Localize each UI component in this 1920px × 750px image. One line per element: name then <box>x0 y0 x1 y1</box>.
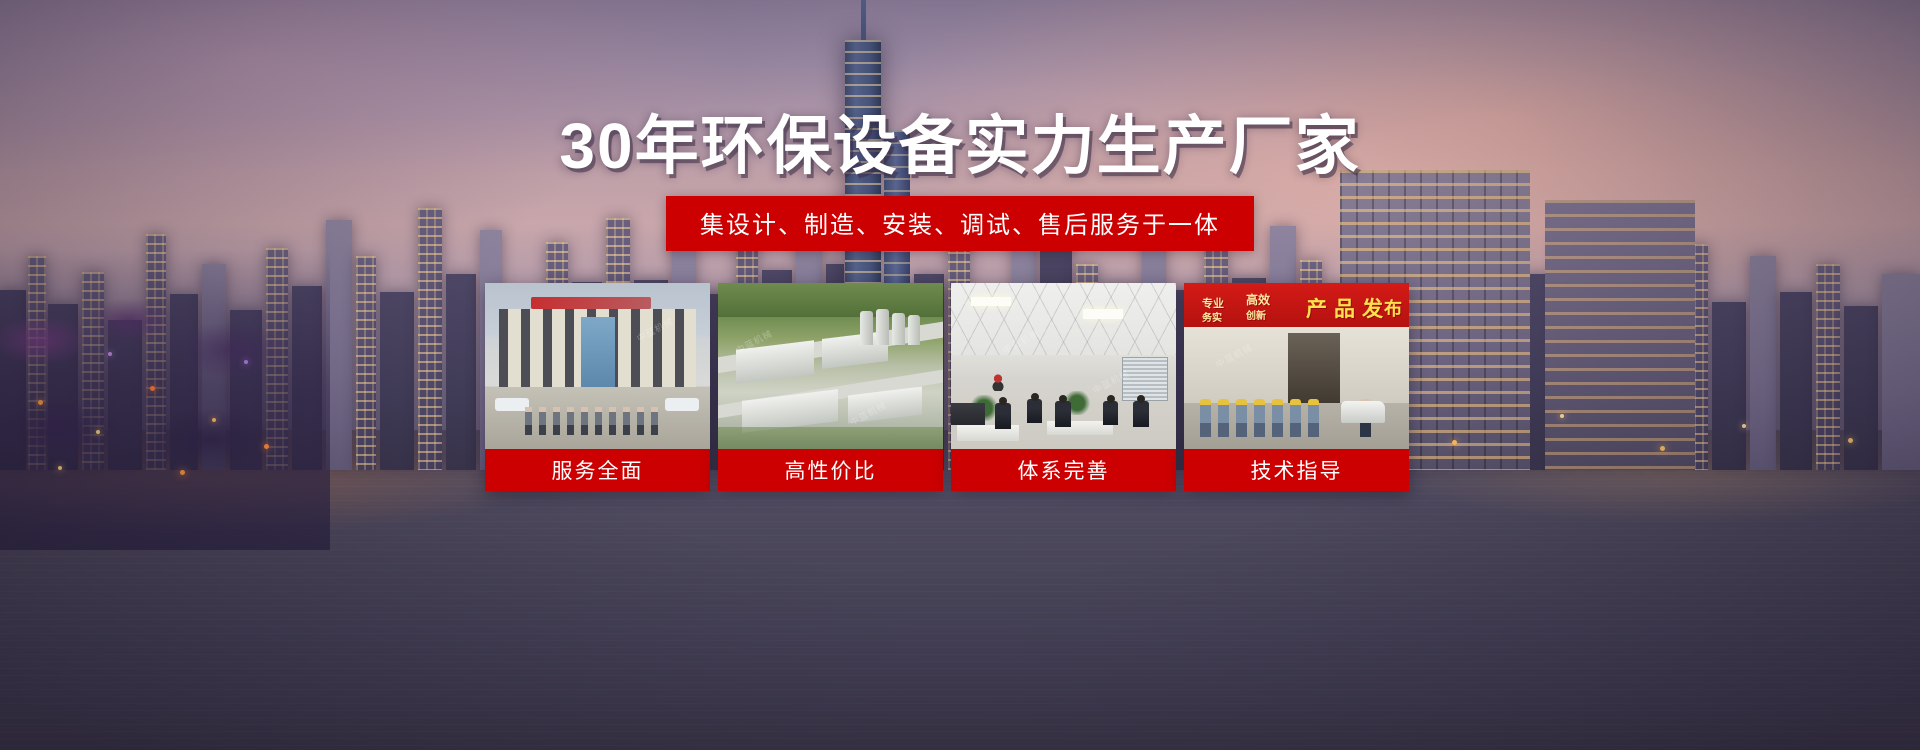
feature-card-label: 高性价比 <box>718 449 943 491</box>
storage-silo <box>876 309 889 345</box>
aerial-plant-photo: 中蓝机械 中蓝机械 <box>718 283 943 449</box>
parked-car <box>495 398 529 411</box>
storage-silo <box>892 313 905 345</box>
partition <box>951 403 985 425</box>
workshop-team-photo: 产 品 发 布 专业 务实 高效 创新 <box>1184 283 1409 449</box>
ceiling-light <box>971 297 1011 306</box>
subtitle-text: 集设计、制造、安装、调试、售后服务于一体 <box>700 205 1220 240</box>
parked-car <box>665 398 699 411</box>
feature-card-label-text: 技术指导 <box>1251 455 1343 485</box>
workshop-door <box>1288 333 1340 407</box>
worker <box>1218 399 1229 437</box>
feature-card-label-text: 体系完善 <box>1018 455 1110 485</box>
seated-person <box>1027 399 1042 423</box>
feature-card[interactable]: 中蓝机械 服务全面 <box>485 283 710 491</box>
office-ceiling <box>951 283 1176 355</box>
worker <box>1254 399 1265 437</box>
seated-person <box>995 403 1011 429</box>
feature-card-label: 技术指导 <box>1184 449 1409 491</box>
feature-card-label: 体系完善 <box>951 449 1176 491</box>
wall-logo <box>985 371 1011 391</box>
worker <box>1290 399 1301 437</box>
building-entrance <box>581 317 615 387</box>
office-interior-photo: 中蓝机械 中蓝机械 <box>951 283 1176 449</box>
feature-card-list: 中蓝机械 服务全面 中蓝机械 中蓝机械 <box>485 283 1435 491</box>
seated-person <box>1055 401 1071 427</box>
feature-card-label: 服务全面 <box>485 449 710 491</box>
headline-wrapper: 30年环保设备实力生产厂家 <box>0 95 1920 187</box>
office-building-photo: 中蓝机械 <box>485 283 710 449</box>
hero-banner: 30年环保设备实力生产厂家 集设计、制造、安装、调试、售后服务于一体 中蓝机械 <box>0 0 1920 750</box>
worker <box>1236 399 1247 437</box>
ceiling-light <box>1083 309 1123 319</box>
feature-card-label-text: 高性价比 <box>785 455 877 485</box>
worker <box>1308 399 1319 437</box>
feature-card-label-text: 服务全面 <box>552 455 644 485</box>
workshop-red-banner: 产 品 发 布 专业 务实 高效 创新 <box>1184 283 1409 327</box>
rooftop-sign <box>531 297 651 309</box>
seated-person <box>1133 401 1149 427</box>
page-title: 30年环保设备实力生产厂家 <box>559 95 1360 187</box>
storage-silo <box>908 315 920 345</box>
seated-person <box>1103 401 1118 425</box>
worker <box>1200 399 1211 437</box>
feature-card[interactable]: 中蓝机械 中蓝机械 高性价比 <box>718 283 943 491</box>
feature-card[interactable]: 中蓝机械 中蓝机械 体系完善 <box>951 283 1176 491</box>
feature-card[interactable]: 产 品 发 布 专业 务实 高效 创新 <box>1184 283 1409 491</box>
storage-silo <box>860 311 873 345</box>
worker <box>1272 399 1283 437</box>
parked-van <box>1341 401 1385 423</box>
subtitle-ribbon: 集设计、制造、安装、调试、售后服务于一体 <box>666 196 1254 251</box>
